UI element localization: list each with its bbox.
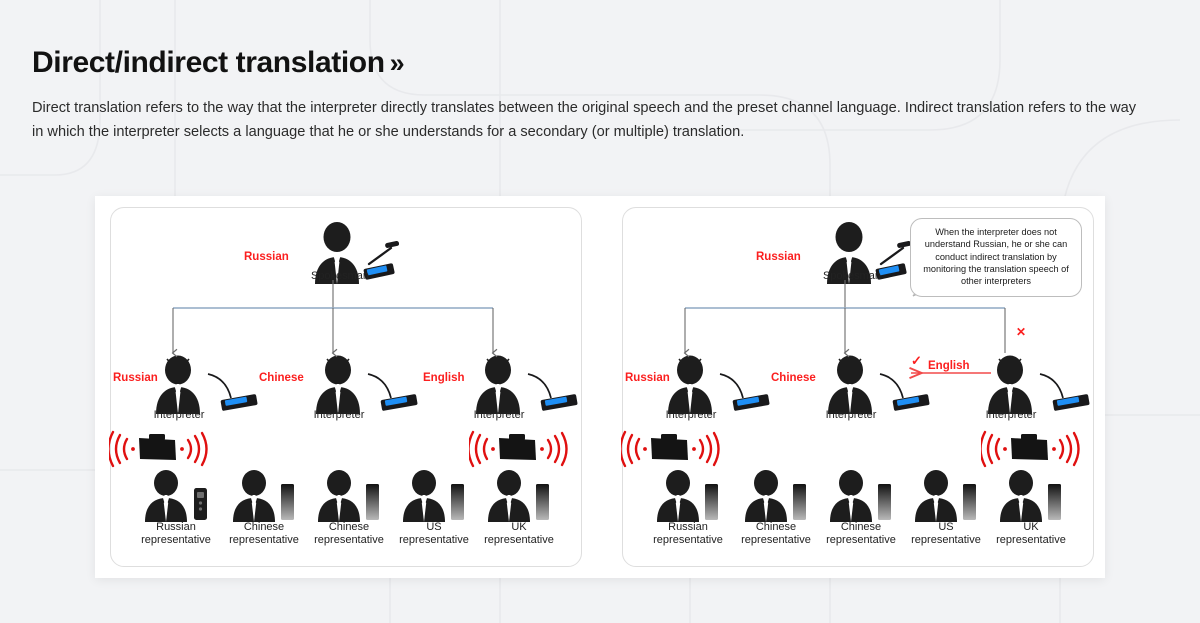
- left-panel-graphics: [111, 208, 581, 566]
- diagram-card: Russian Spokesman Russian Interpreter: [95, 196, 1105, 578]
- panel-direct-translation: Russian Spokesman Russian Interpreter: [110, 207, 582, 567]
- page-title-text: Direct/indirect translation: [32, 46, 385, 79]
- relay-arrow-label: English: [928, 360, 970, 372]
- page-description: Direct translation refers to the way tha…: [32, 97, 1137, 144]
- page-header: Direct/indirect translation » Direct tra…: [32, 46, 1162, 144]
- page-title: Direct/indirect translation »: [32, 46, 1162, 79]
- chevron-double-right-icon: »: [390, 49, 402, 79]
- indirect-translation-callout: When the interpreter does not understand…: [910, 218, 1082, 297]
- check-mark-icon: ✓: [911, 353, 922, 369]
- panel-indirect-translation: Russian Spokesman When the interpreter d…: [622, 207, 1094, 567]
- cross-mark-icon: ✕: [1016, 325, 1026, 339]
